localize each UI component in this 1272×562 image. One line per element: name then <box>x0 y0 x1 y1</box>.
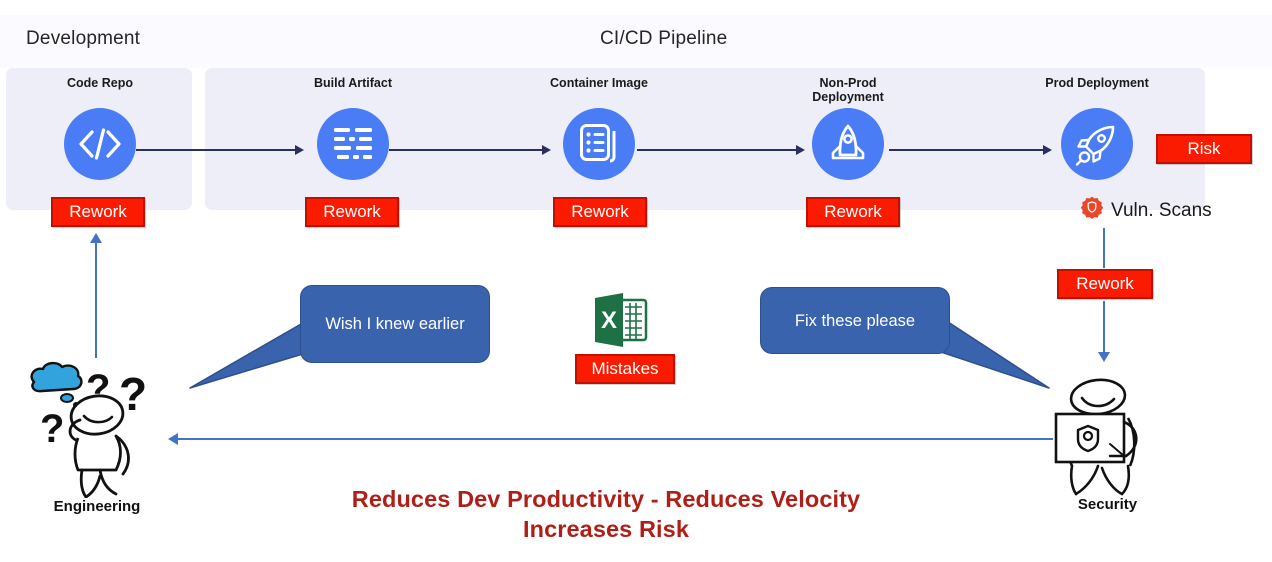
rework-badge-container-image[interactable]: Rework <box>553 197 647 227</box>
rework-badge-non-prod[interactable]: Rework <box>806 197 900 227</box>
vuln-scans-label: Vuln. Scans <box>1111 200 1212 222</box>
security-speech-bubble[interactable]: Fix these please <box>755 280 1085 400</box>
diagram-canvas: Development CI/CD Pipeline Code Repo Re <box>0 0 1272 562</box>
node-code-repo[interactable] <box>64 108 136 180</box>
stage-label-prod-deployment: Prod Deployment <box>1002 76 1192 106</box>
stage-label-non-prod-deployment: Non-Prod Deployment <box>753 76 943 106</box>
stage-prod-deployment[interactable]: Prod Deployment <box>1002 76 1192 180</box>
lane-caption-cicd: CI/CD Pipeline <box>600 28 727 50</box>
svg-text:X: X <box>601 307 617 334</box>
feedback-arrowhead-to-repo <box>90 233 102 243</box>
code-brackets-icon <box>77 127 123 161</box>
feedback-line-prod-bottom <box>1103 301 1105 354</box>
engineering-bubble-text: Wish I knew earlier <box>300 285 490 363</box>
shield-gear-icon <box>1080 196 1104 225</box>
security-person[interactable]: Security <box>1040 378 1175 508</box>
excel-spreadsheet-icon: X <box>592 292 650 353</box>
feedback-line-engineering-to-repo <box>95 243 97 358</box>
feedback-line-prod-top <box>1103 228 1105 268</box>
headline-text: Reduces Dev Productivity - Reduces Veloc… <box>216 484 996 544</box>
stage-label-build-artifact: Build Artifact <box>258 76 448 106</box>
document-list-icon <box>578 122 620 166</box>
feedback-line-security-to-engineering <box>178 438 1053 440</box>
stage-label-container-image: Container Image <box>504 76 694 106</box>
rework-badge-build-artifact[interactable]: Rework <box>305 197 399 227</box>
stage-non-prod-deployment[interactable]: Non-Prod Deployment <box>753 76 943 180</box>
risk-badge[interactable]: Risk <box>1156 134 1252 164</box>
node-container-image[interactable] <box>563 108 635 180</box>
lane-caption-development: Development <box>26 28 140 50</box>
mistakes-badge[interactable]: Mistakes <box>575 354 675 384</box>
feedback-arrowhead-to-security <box>1098 352 1110 362</box>
engineering-person[interactable]: ? ? ? Engineering <box>12 358 182 523</box>
stage-code-repo[interactable]: Code Repo <box>5 76 195 180</box>
security-bubble-text: Fix these please <box>760 287 950 354</box>
node-build-artifact[interactable] <box>317 108 389 180</box>
svg-text:?: ? <box>40 407 64 451</box>
stage-label-code-repo: Code Repo <box>5 76 195 106</box>
vuln-scans-row[interactable]: Vuln. Scans <box>1080 196 1212 225</box>
rework-badge-code-repo[interactable]: Rework <box>51 197 145 227</box>
engineering-label: Engineering <box>12 498 182 515</box>
node-prod-deployment[interactable] <box>1061 108 1133 180</box>
stage-build-artifact[interactable]: Build Artifact <box>258 76 448 180</box>
stage-container-image[interactable]: Container Image <box>504 76 694 180</box>
engineering-speech-bubble[interactable]: Wish I knew earlier <box>180 275 510 400</box>
rocket-diagonal-icon <box>1074 121 1120 167</box>
rocket-up-icon <box>826 122 870 166</box>
build-lines-icon <box>331 126 375 162</box>
node-non-prod-deployment[interactable] <box>812 108 884 180</box>
security-label: Security <box>1040 496 1175 513</box>
